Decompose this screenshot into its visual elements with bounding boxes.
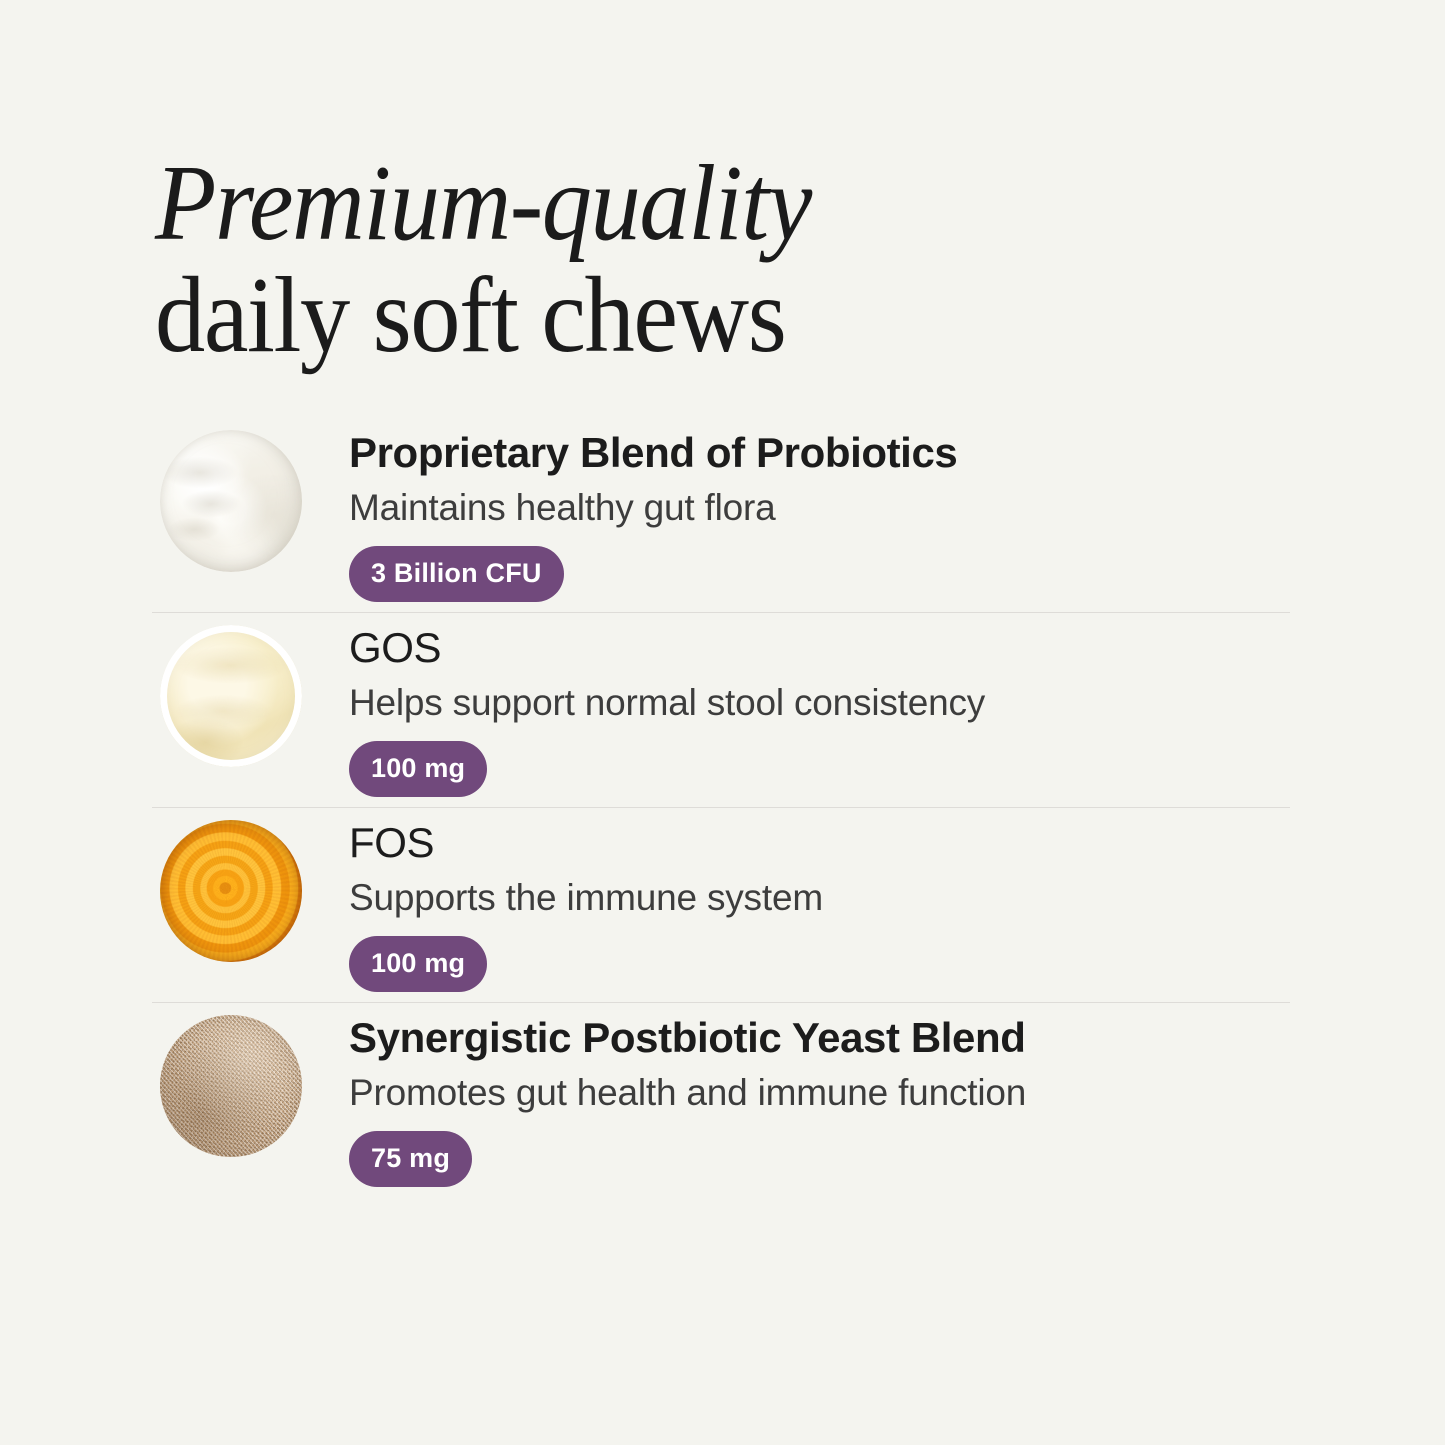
feature-subtitle: Promotes gut health and immune function xyxy=(349,1069,1292,1117)
status-badge: 100 mg xyxy=(349,741,487,797)
orange-chicory-root-slice-icon xyxy=(160,820,302,962)
feature-subtitle: Helps support normal stool consistency xyxy=(349,679,1292,727)
status-badge: 75 mg xyxy=(349,1131,472,1187)
feature-thumbnail-wrap xyxy=(152,816,312,962)
status-badge: 100 mg xyxy=(349,936,487,992)
feature-title: Proprietary Blend of Probiotics xyxy=(349,428,1292,478)
tan-granular-yeast-icon xyxy=(160,1015,302,1157)
feature-title: FOS xyxy=(349,818,1292,868)
list-item: GOS Helps support normal stool consisten… xyxy=(152,613,1292,807)
feature-title: GOS xyxy=(349,623,1292,673)
page-title: Premium-quality daily soft chews xyxy=(155,148,1275,372)
headline-line-2: daily soft chews xyxy=(155,260,1197,372)
feature-text-block: GOS Helps support normal stool consisten… xyxy=(312,621,1292,797)
cream-butter-swirl-icon xyxy=(160,625,302,767)
feature-thumbnail-wrap xyxy=(152,426,312,572)
list-item: FOS Supports the immune system 100 mg xyxy=(152,808,1292,1002)
list-item: Proprietary Blend of Probiotics Maintain… xyxy=(152,418,1292,612)
feature-subtitle: Maintains healthy gut flora xyxy=(349,484,1292,532)
feature-text-block: Synergistic Postbiotic Yeast Blend Promo… xyxy=(312,1011,1292,1187)
feature-list: Proprietary Blend of Probiotics Maintain… xyxy=(152,418,1292,1197)
list-item: Synergistic Postbiotic Yeast Blend Promo… xyxy=(152,1003,1292,1197)
product-benefits-infographic: Premium-quality daily soft chews Proprie… xyxy=(0,0,1445,1445)
status-badge: 3 Billion CFU xyxy=(349,546,564,602)
headline-line-1: Premium-quality xyxy=(155,148,1197,260)
feature-thumbnail-wrap xyxy=(152,1011,312,1157)
feature-text-block: Proprietary Blend of Probiotics Maintain… xyxy=(312,426,1292,602)
white-yogurt-probiotic-swirl-icon xyxy=(160,430,302,572)
feature-text-block: FOS Supports the immune system 100 mg xyxy=(312,816,1292,992)
feature-subtitle: Supports the immune system xyxy=(349,874,1292,922)
feature-title: Synergistic Postbiotic Yeast Blend xyxy=(349,1013,1292,1063)
feature-thumbnail-wrap xyxy=(152,621,312,767)
